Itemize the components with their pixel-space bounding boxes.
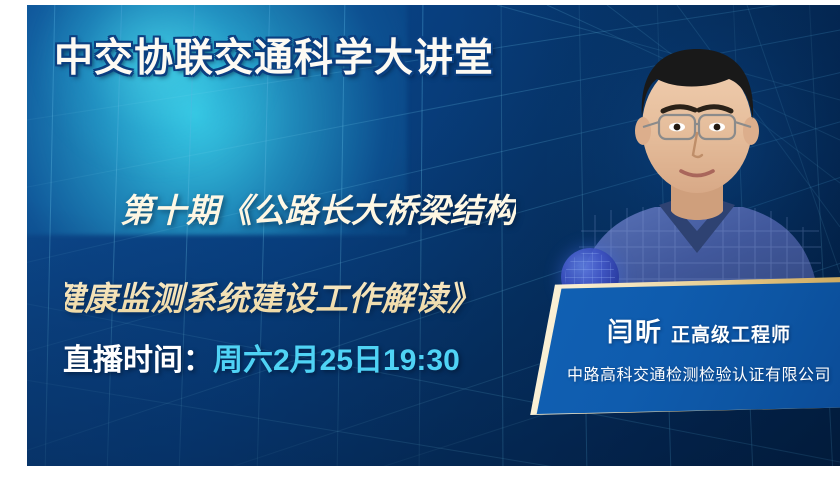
episode-subtitle-line1: 第十期《公路长大桥梁结构 <box>120 192 516 229</box>
page-title: 中交协联交通科学大讲堂 <box>54 27 494 83</box>
speaker-name: 闫昕 <box>607 312 663 349</box>
speaker-organization: 中路高科交通检测检验认证有限公司 <box>567 361 831 385</box>
live-time-value: 周六2月25日19:30 <box>213 344 460 377</box>
speaker-name-row: 闫昕 正高级工程师 <box>607 312 791 349</box>
live-time-label: 直播时间： <box>63 344 213 377</box>
episode-subtitle-line2: 健康监测系统建设工作解读》 <box>51 277 516 321</box>
poster-artboard: 中交协联交通科学大讲堂 第十期《公路长大桥梁结构 健康监测系统建设工作解读》 直… <box>27 5 840 466</box>
poster-canvas: 中交协联交通科学大讲堂 第十期《公路长大桥梁结构 健康监测系统建设工作解读》 直… <box>0 0 840 480</box>
speaker-plate: 闫昕 正高级工程师 中路高科交通检测检验认证有限公司 <box>523 282 840 414</box>
speaker-title: 正高级工程师 <box>671 320 791 347</box>
live-time-row: 直播时间：周六2月25日19:30 <box>63 335 460 379</box>
